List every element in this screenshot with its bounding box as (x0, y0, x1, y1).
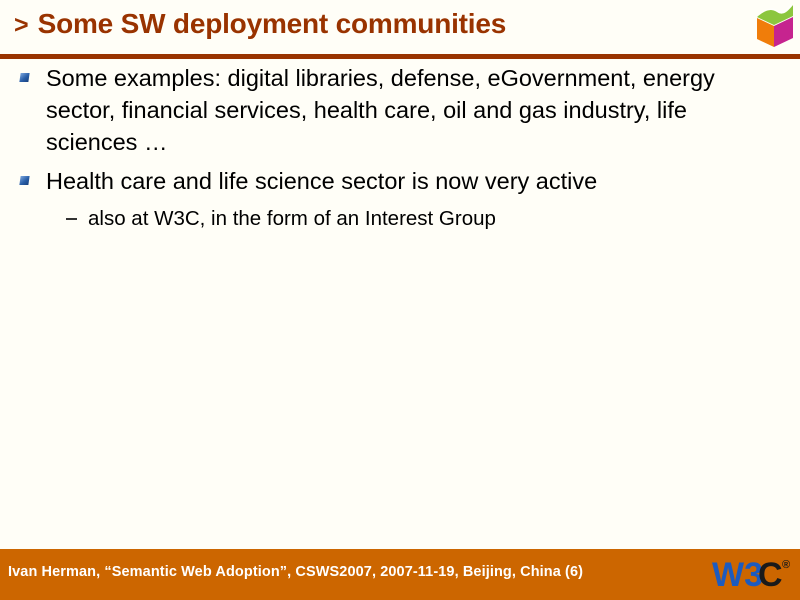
header-divider (0, 54, 800, 59)
bullet-text: Some examples: digital libraries, defens… (46, 62, 746, 159)
list-item: Some examples: digital libraries, defens… (0, 62, 800, 159)
page-title: > Some SW deployment communities (14, 9, 506, 38)
list-item: Health care and life science sector is n… (0, 165, 800, 197)
svg-text:W3: W3 (712, 556, 763, 594)
cube-logo (753, 2, 797, 48)
slide-header: > Some SW deployment communities (0, 0, 800, 54)
page-title-text: Some SW deployment communities (38, 9, 507, 38)
slide-footer: Ivan Herman, “Semantic Web Adoption”, CS… (0, 549, 800, 600)
footer-citation: Ivan Herman, “Semantic Web Adoption”, CS… (8, 564, 583, 580)
sub-list-item: also at W3C, in the form of an Interest … (0, 205, 800, 233)
slide-content: Some examples: digital libraries, defens… (0, 62, 800, 232)
sub-bullet-text: also at W3C, in the form of an Interest … (88, 205, 496, 233)
square-bullet-icon (19, 73, 29, 82)
w3c-logo: W3 C ® (712, 556, 798, 594)
bullet-text: Health care and life science sector is n… (46, 165, 597, 197)
svg-text:®: ® (782, 559, 790, 571)
square-bullet-icon (19, 176, 29, 185)
slide-canvas: > Some SW deployment communities Some ex… (0, 0, 800, 600)
dash-bullet-icon (66, 218, 77, 220)
title-chevron-icon: > (14, 13, 29, 38)
svg-text:C: C (758, 556, 783, 594)
